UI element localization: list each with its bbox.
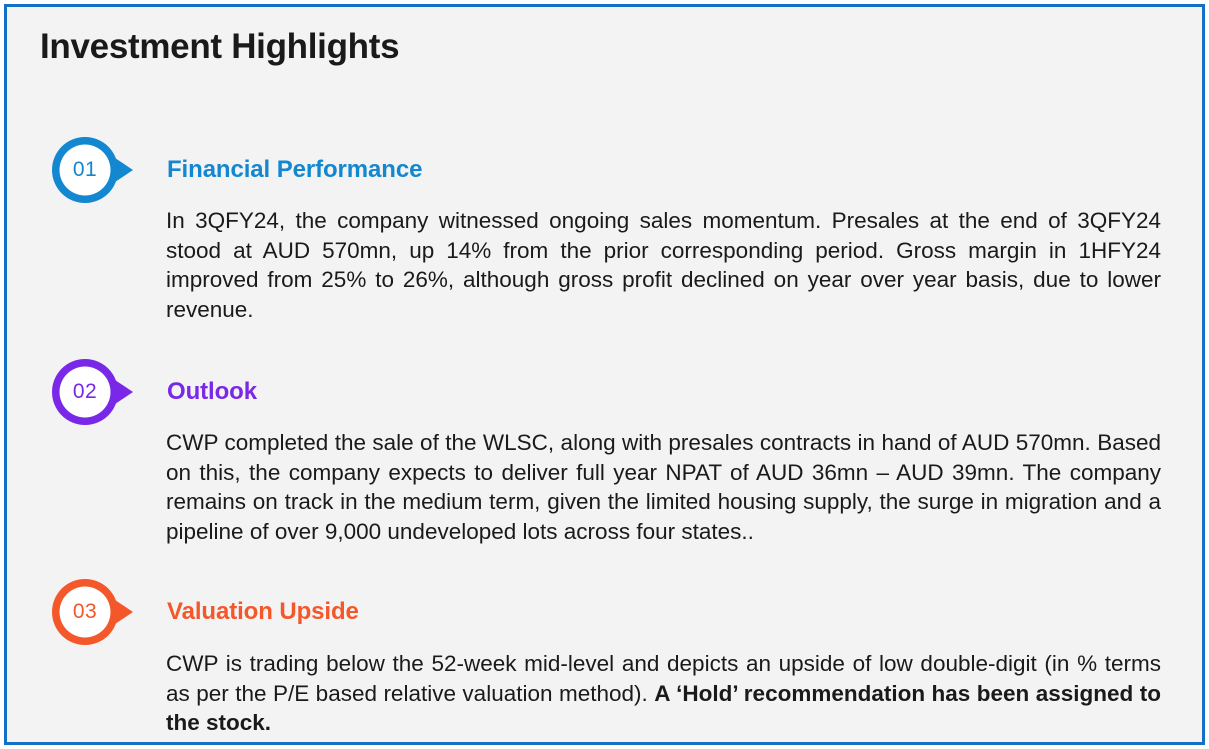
section-body-2: CWP completed the sale of the WLSC, alon… [166, 428, 1161, 546]
section-body-text-2: CWP completed the sale of the WLSC, alon… [166, 430, 1161, 544]
section-body-3: CWP is trading below the 52-week mid-lev… [166, 649, 1161, 738]
step-badge-2: 02 [51, 358, 139, 426]
slide-container: Investment Highlights 01 Financial Perfo… [4, 4, 1205, 745]
step-number-2: 02 [51, 358, 119, 426]
step-badge-1: 01 [51, 136, 139, 204]
step-badge-3: 03 [51, 578, 139, 646]
section-body-text-1: In 3QFY24, the company witnessed ongoing… [166, 208, 1161, 322]
section-body-1: In 3QFY24, the company witnessed ongoing… [166, 206, 1161, 324]
step-number-3: 03 [51, 578, 119, 646]
section-heading-valuation-upside: Valuation Upside [167, 598, 359, 626]
section-heading-outlook: Outlook [167, 378, 257, 406]
step-number-1: 01 [51, 136, 119, 204]
page-title: Investment Highlights [40, 27, 399, 67]
section-heading-financial-performance: Financial Performance [167, 156, 422, 184]
